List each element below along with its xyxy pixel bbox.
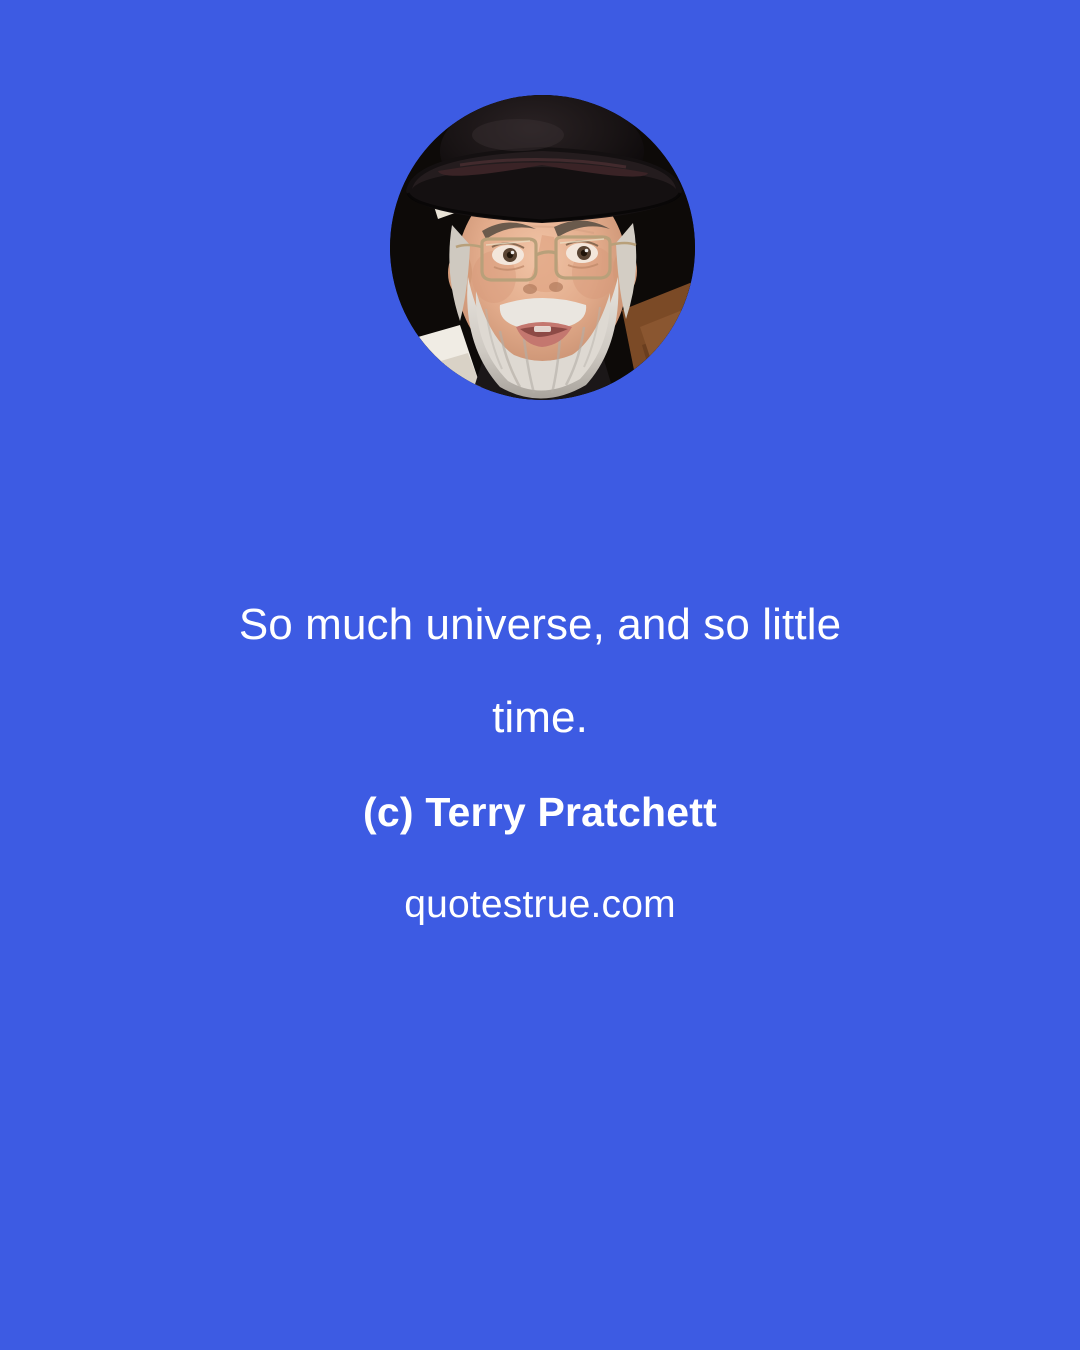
quote-text: So much universe, and so little time. <box>0 578 1080 764</box>
quote-card: So much universe, and so little time. (c… <box>0 0 1080 1350</box>
quote-line-1: So much universe, and so little <box>0 578 1080 671</box>
quote-line-2: time. <box>0 671 1080 764</box>
author-portrait <box>390 95 695 400</box>
author-portrait-photo <box>390 95 695 400</box>
attribution: (c) Terry Pratchett <box>0 786 1080 838</box>
source-watermark: quotestrue.com <box>0 879 1080 931</box>
